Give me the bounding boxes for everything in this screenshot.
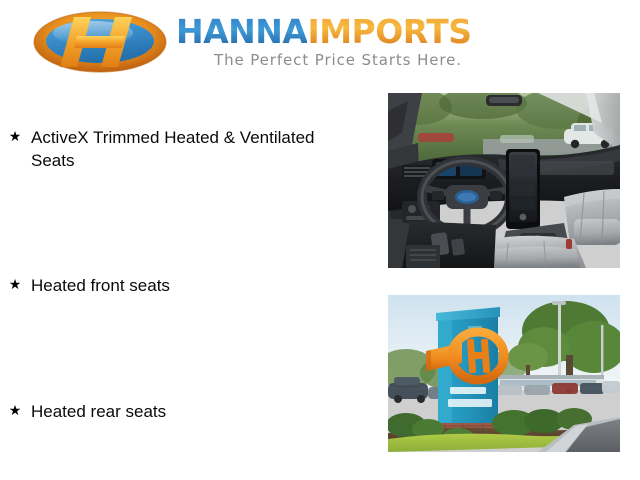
feature-list: ★ ActiveX Trimmed Heated & Ventilated Se… (0, 92, 380, 480)
star-bullet-icon: ★ (8, 126, 22, 149)
feature-label: Heated front seats (31, 274, 170, 297)
list-item: ★ Heated front seats (8, 274, 360, 297)
wordmark-imports: IMPORTS (307, 12, 471, 51)
brand-wordmark: HANNAIMPORTS (176, 14, 521, 50)
feature-label: ActiveX Trimmed Heated & Ventilated Seat… (31, 126, 360, 172)
wordmark-hanna: HANNA (176, 12, 307, 51)
brand-header: HANNAIMPORTS The Perfect Price Starts He… (0, 0, 640, 90)
feature-label: Heated rear seats (31, 400, 166, 423)
hanna-h-oval-emblem-icon (33, 9, 168, 73)
brand-tagline: The Perfect Price Starts Here. (214, 51, 534, 69)
star-bullet-icon: ★ (8, 400, 22, 423)
vehicle-interior-photo (388, 93, 620, 268)
dealership-sign-photo (388, 295, 620, 452)
star-bullet-icon: ★ (8, 274, 22, 297)
list-item: ★ Heated rear seats (8, 400, 360, 423)
list-item: ★ ActiveX Trimmed Heated & Ventilated Se… (8, 126, 360, 172)
